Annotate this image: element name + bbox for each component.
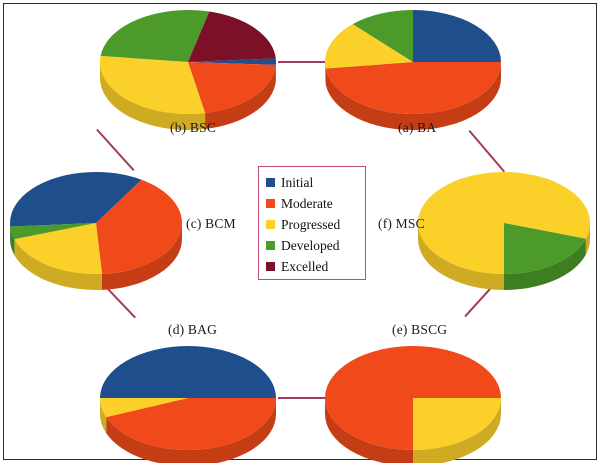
legend-swatch-moderate [266, 199, 275, 208]
pie-top-bscg [325, 346, 501, 450]
pie-top-bcm [10, 172, 182, 274]
legend-label: Initial [281, 176, 313, 190]
pie-chart-bsc [94, 4, 282, 136]
pie-label-bcm: (c) BCM [186, 216, 236, 232]
legend-label: Progressed [281, 218, 340, 232]
legend-item-progressed: Progressed [266, 214, 359, 235]
legend-item-developed: Developed [266, 235, 359, 256]
legend-rows: InitialModerateProgressedDevelopedExcell… [266, 172, 359, 277]
pie-top-msc [418, 172, 590, 274]
pie-slice-initial [100, 346, 276, 398]
pie-chart-ba [319, 4, 507, 136]
pie-slice-progressed [413, 398, 501, 450]
pie-slice-initial [413, 10, 501, 62]
legend-label: Moderate [281, 197, 333, 211]
legend: InitialModerateProgressedDevelopedExcell… [258, 166, 366, 280]
legend-swatch-initial [266, 178, 275, 187]
pie-chart-bscg [319, 340, 507, 463]
pie-top-bsc [100, 10, 276, 114]
legend-item-initial: Initial [266, 172, 359, 193]
pie-label-bscg: (e) BSCG [392, 322, 447, 338]
pie-label-bsc: (b) BSC [170, 120, 216, 136]
legend-swatch-developed [266, 241, 275, 250]
legend-item-excelled: Excelled [266, 256, 359, 277]
pie-label-msc: (f) MSC [378, 216, 425, 232]
legend-label: Developed [281, 239, 339, 253]
legend-swatch-progressed [266, 220, 275, 229]
pie-chart-msc [412, 166, 596, 296]
legend-item-moderate: Moderate [266, 193, 359, 214]
legend-label: Excelled [281, 260, 328, 274]
pie-chart-figure: InitialModerateProgressedDevelopedExcell… [0, 0, 600, 463]
pie-top-bag [100, 346, 276, 450]
legend-swatch-excelled [266, 262, 275, 271]
pie-chart-bag [94, 340, 282, 463]
pie-label-bag: (d) BAG [168, 322, 217, 338]
pie-label-ba: (a) BA [398, 120, 436, 136]
pie-top-ba [325, 10, 501, 114]
pie-chart-bcm [4, 166, 188, 296]
